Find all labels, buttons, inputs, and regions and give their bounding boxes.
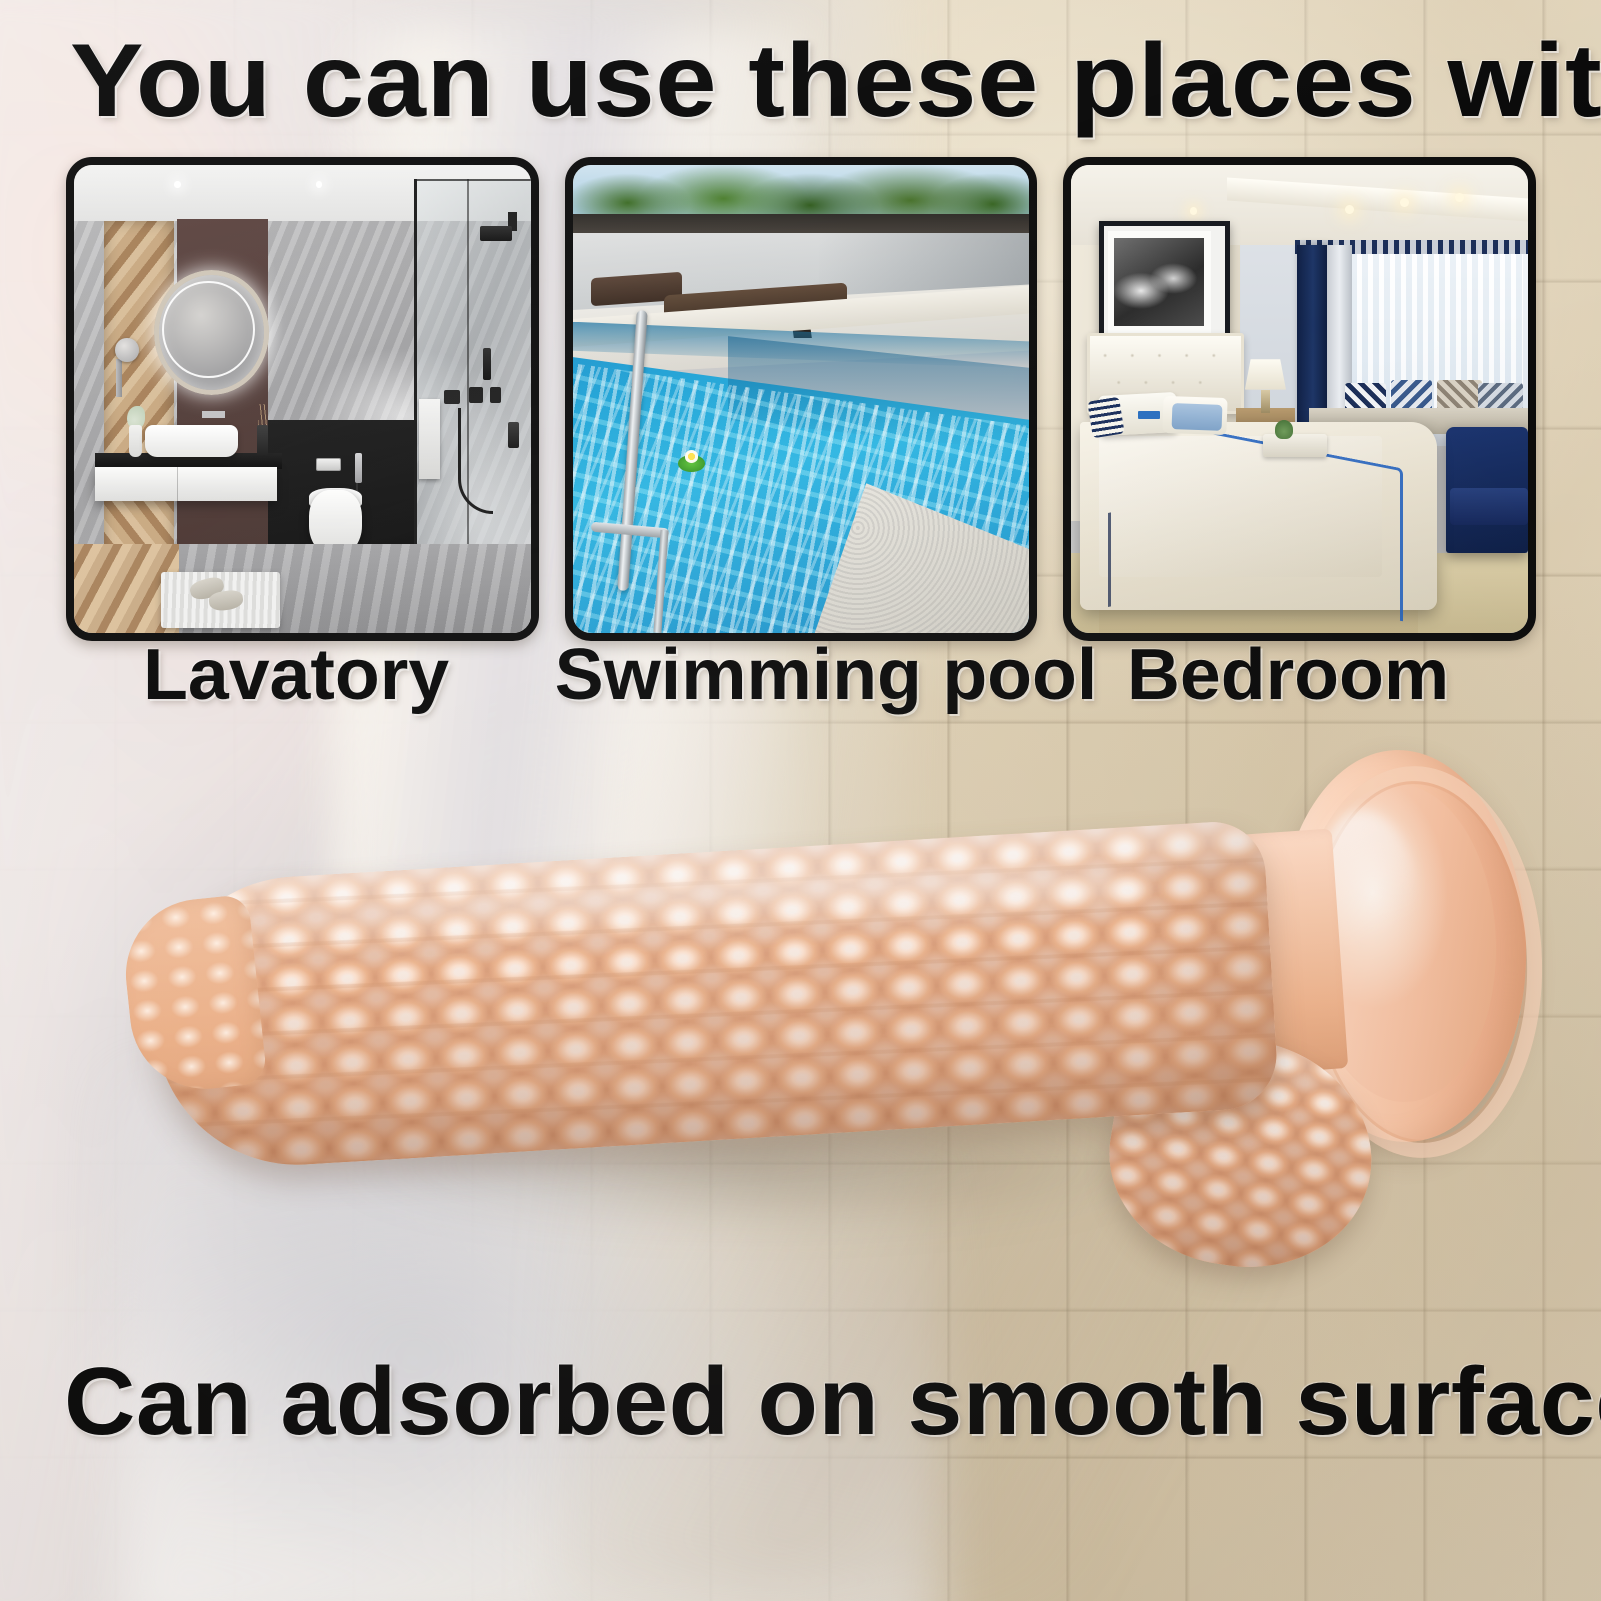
floating-flower bbox=[685, 450, 699, 462]
faucet bbox=[202, 411, 225, 418]
panel-swimming-pool bbox=[565, 157, 1038, 641]
table-lamp-shade bbox=[1245, 359, 1286, 389]
promo-image: You can use these places with bbox=[0, 0, 1601, 1601]
vanity-drawer-seam bbox=[177, 467, 178, 501]
bedroom-scene bbox=[1071, 165, 1528, 633]
artwork-image bbox=[1114, 238, 1204, 326]
bathroom-scene bbox=[74, 165, 531, 633]
mirror-led-ring bbox=[162, 281, 255, 379]
bottom-caption: Can adsorbed on smooth surfaces bbox=[64, 1350, 1601, 1454]
armchair-seat bbox=[1450, 488, 1528, 525]
white-vanity-cabinet bbox=[95, 467, 278, 501]
pillow-logo bbox=[1138, 411, 1161, 419]
panel-label-lavatory: Lavatory bbox=[143, 636, 449, 714]
shaving-mirror-arm bbox=[116, 359, 121, 396]
vessel-sink bbox=[145, 425, 239, 458]
table-lamp-base bbox=[1261, 390, 1270, 413]
usage-scenario-panels bbox=[66, 157, 1536, 625]
downlight-icon bbox=[1190, 207, 1197, 214]
flush-plate bbox=[316, 458, 341, 472]
striped-bolster bbox=[1087, 397, 1124, 439]
navy-curtain bbox=[1297, 245, 1329, 423]
page-title: You can use these places with bbox=[70, 26, 1601, 136]
panel-bedroom bbox=[1063, 157, 1536, 641]
shower-valve bbox=[490, 387, 501, 403]
shower-valve bbox=[444, 390, 460, 404]
tray-plant bbox=[1275, 420, 1293, 439]
pool-scene bbox=[573, 165, 1030, 633]
vase bbox=[129, 425, 143, 458]
reed-diffuser-sticks bbox=[258, 404, 267, 427]
panel-label-swimming-pool: Swimming pool bbox=[555, 636, 1098, 714]
ceiling-spot-light-icon bbox=[174, 181, 180, 188]
panel-label-bedroom: Bedroom bbox=[1127, 636, 1449, 714]
bidet-sprayer bbox=[355, 453, 362, 483]
towel-on-rail bbox=[419, 399, 440, 479]
product-tip bbox=[118, 894, 267, 1097]
bed-tray bbox=[1263, 434, 1327, 457]
blue-accent-pillow bbox=[1171, 403, 1222, 430]
reed-diffuser-bottle bbox=[257, 425, 268, 455]
hand-shower bbox=[483, 348, 491, 381]
rain-shower-head bbox=[480, 226, 512, 241]
shower-bottle bbox=[508, 422, 519, 448]
panel-lavatory bbox=[66, 157, 539, 641]
shower-valve bbox=[469, 387, 483, 403]
product-photo bbox=[110, 740, 1520, 1310]
